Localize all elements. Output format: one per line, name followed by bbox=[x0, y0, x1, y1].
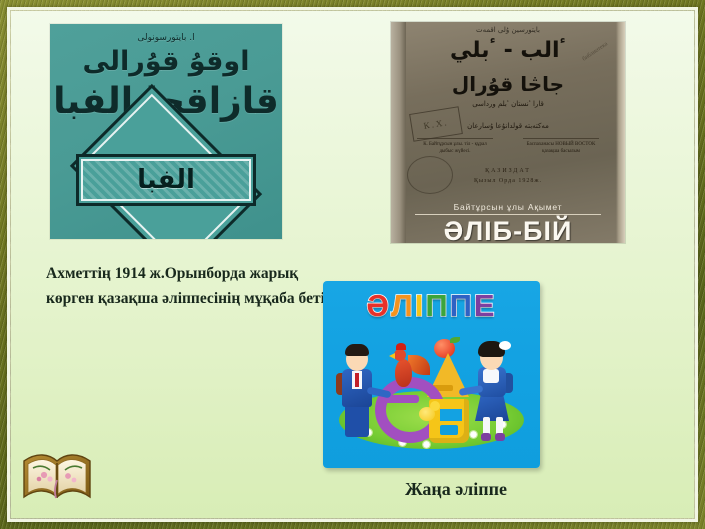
alifba-ornamental-cartouche: الفبا bbox=[72, 146, 260, 214]
slide-root: ا. بايتورسونولى اوقۇ قۇرالى قازاقچا الفب… bbox=[0, 0, 705, 529]
image-alippe-textbook[interactable]: ӘЛІППЕ bbox=[323, 281, 540, 468]
library-stamp-round bbox=[407, 156, 453, 194]
image-qazaqsha-alifba-cover[interactable]: ا. بايتورسونولى اوقۇ قۇرالى قازاقچا الفب… bbox=[50, 24, 282, 239]
image-alib-biy-photo[interactable]: بايتورسين ۇلى اقمەت ٴالب - ٴبلي جاڅا قۇر… bbox=[391, 22, 625, 243]
alippe-title-letter-2: І bbox=[415, 288, 426, 324]
alibbiy-author: Байтұрсын ұлы Ақымет bbox=[415, 202, 601, 215]
alippe-title-letter-5: Е bbox=[474, 288, 497, 324]
alippe-title-letter-4: П bbox=[450, 288, 474, 324]
alibbiy-column-right: Баспаханасы НОВЫЙ ВОСТОК қазақша басылым bbox=[523, 138, 599, 155]
alibbiy-title: ӘЛІБ-БІЙ bbox=[391, 216, 625, 243]
rooster-beak-icon bbox=[389, 353, 395, 359]
alippe-title-letter-0: Ә bbox=[366, 288, 391, 324]
cartouche-word: الفبا bbox=[72, 165, 260, 195]
schoolboy-hair bbox=[345, 344, 369, 356]
alifba-author-line: اوقۇ قۇرالى bbox=[50, 46, 282, 77]
chick-head-icon bbox=[430, 401, 440, 411]
alifba-top-line: ا. بايتورسونولى bbox=[50, 33, 282, 43]
slide-canvas: ا. بايتورسونولى اوقۇ قۇرالى قازاقچا الفب… bbox=[11, 11, 694, 518]
flower-icon bbox=[423, 441, 430, 448]
alippe-title-letter-3: П bbox=[425, 288, 449, 324]
schoolboy-tie bbox=[355, 373, 359, 387]
open-book-icon bbox=[19, 435, 97, 513]
letter-b-hole bbox=[440, 425, 458, 435]
schoolgirl-shoes bbox=[481, 433, 505, 441]
alippe-title: ӘЛІППЕ bbox=[323, 288, 540, 324]
caption-left-text: Ахметтің 1914 ж.Орынборда жарық көрген қ… bbox=[46, 261, 334, 311]
rooster-comb-icon bbox=[396, 343, 406, 350]
schoolgirl-hair-bow bbox=[499, 341, 511, 350]
caption-bottom-text: Жаңа әліппе bbox=[341, 479, 571, 500]
alibbiy-column-left: К. Байтұрсын ұлы. тіл - құрал дыбыс жүйе… bbox=[417, 138, 493, 155]
apple-leaf-icon bbox=[450, 337, 460, 343]
rooster-body-icon bbox=[395, 359, 412, 387]
schoolgirl-blouse bbox=[483, 369, 499, 383]
letter-b-cut bbox=[440, 409, 462, 421]
flower-icon bbox=[470, 431, 477, 438]
alibbiy-top-line: بايتورسين ۇلى اقمەت bbox=[391, 26, 625, 34]
alibbiy-arabic-line-2: جاڅا قۇرال bbox=[391, 72, 625, 96]
alippe-title-letter-1: Л bbox=[391, 288, 415, 324]
rooster-head-icon bbox=[394, 349, 406, 361]
